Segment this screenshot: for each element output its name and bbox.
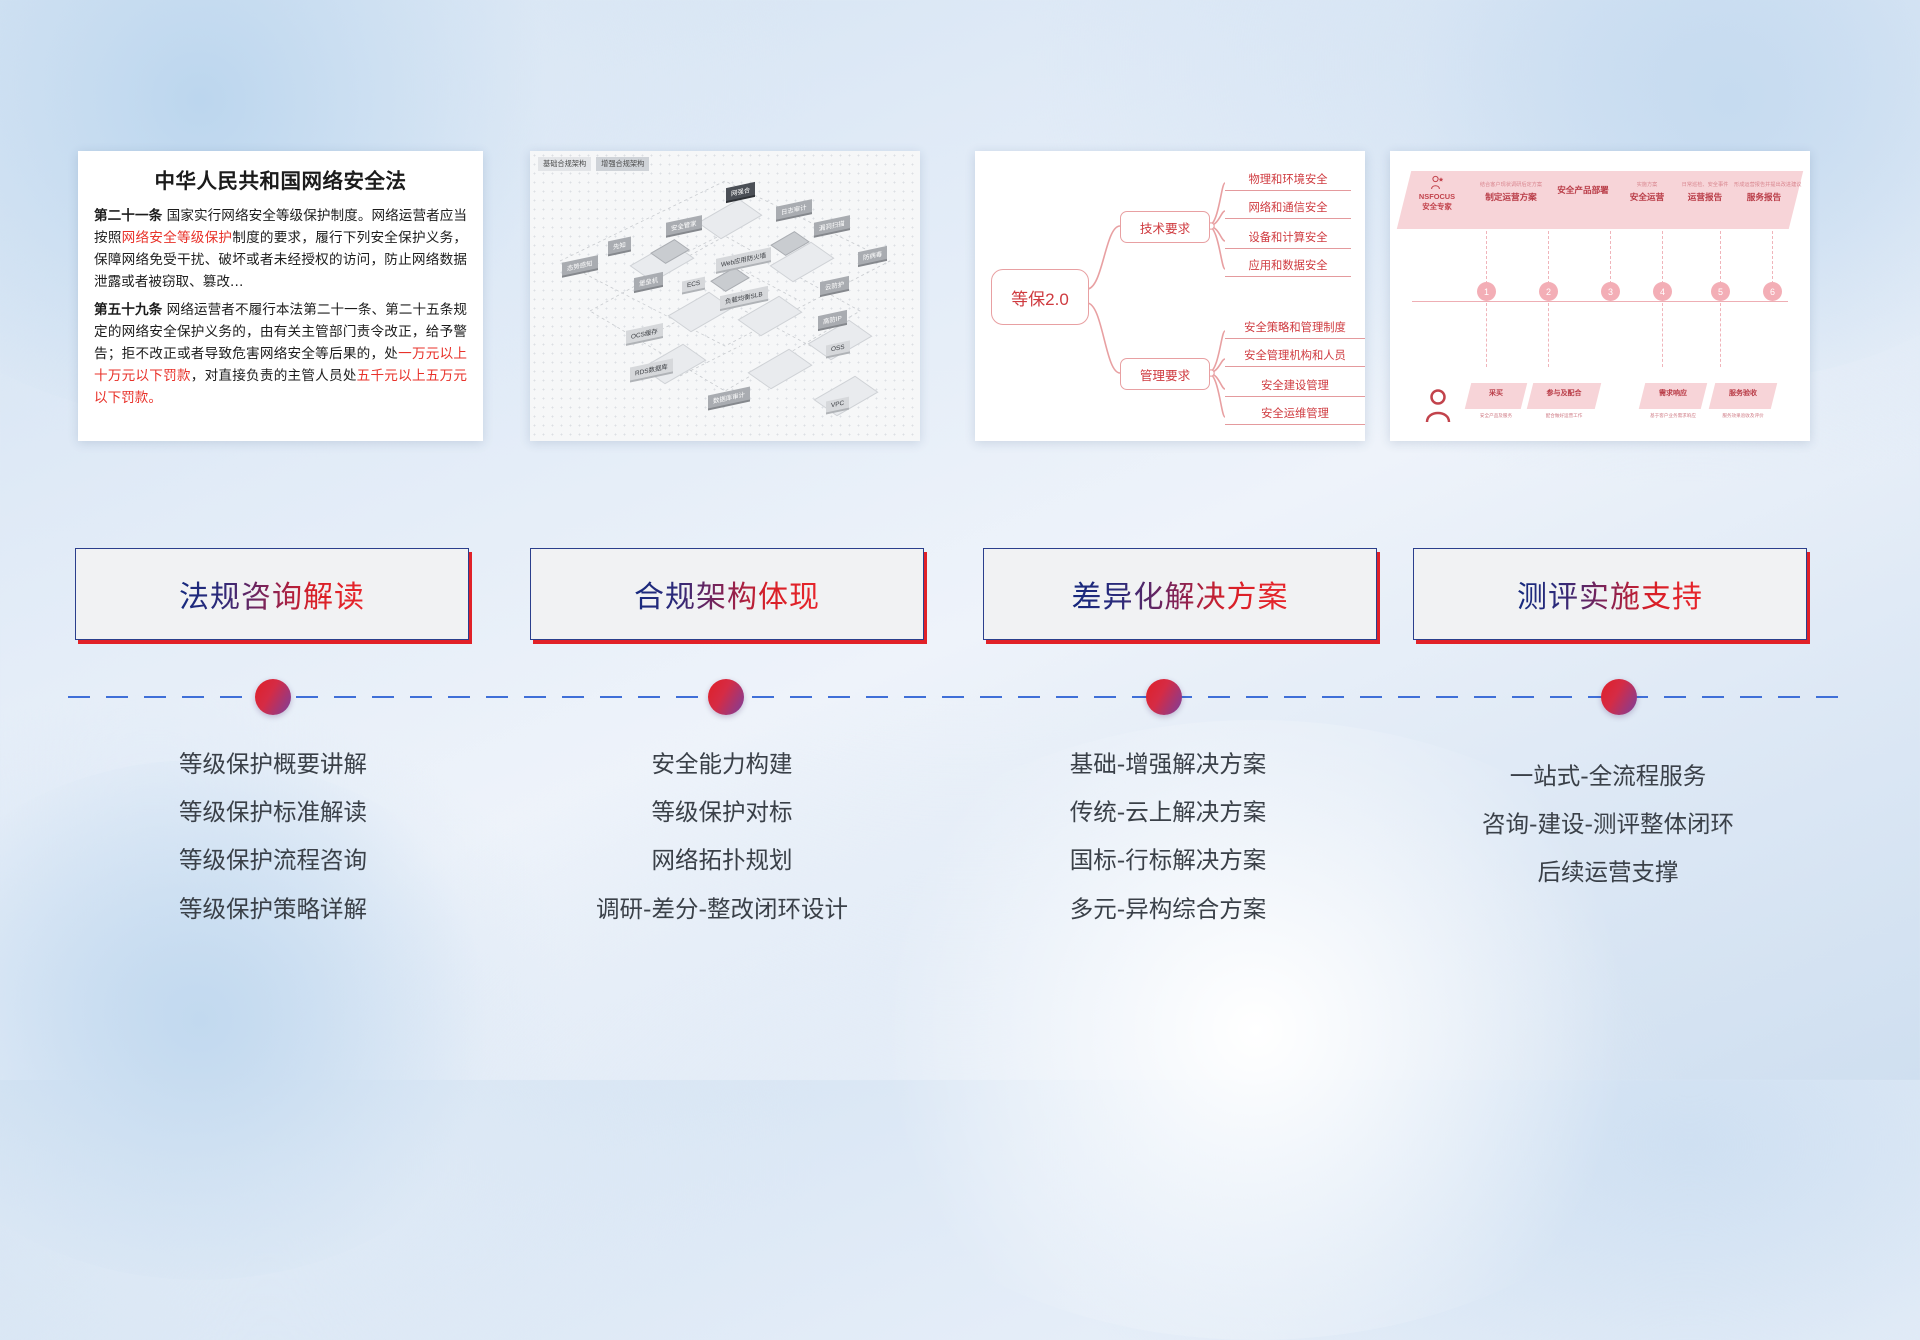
list-item: 国标-行标解决方案	[958, 836, 1378, 884]
mindmap-canvas: 等保2.0 技术要求 管理要求 物理和环境安全 网络和通信安全 设备和计算安全 …	[975, 151, 1365, 441]
mindmap-leaf-t0: 物理和环境安全	[1225, 171, 1351, 191]
roadmap-step-4-sub: 日常巡检、安全事件	[1676, 181, 1734, 188]
law-seg-2-2: ，对直接负责的主管人员处	[191, 368, 357, 384]
roadmap-step-3-sub: 实施方案	[1616, 181, 1678, 188]
section-title-3: 差异化解决方案	[1072, 572, 1289, 616]
roadmap-vline-b3	[1662, 303, 1663, 367]
roadmap-expert-role: 安全专家	[1412, 202, 1462, 212]
architecture-canvas: 基础合规架构 增强合规架构	[530, 151, 920, 441]
mindmap-branch-technical: 技术要求	[1120, 211, 1210, 243]
roadmap-step-3-title: 安全运营	[1616, 191, 1678, 203]
roadmap-tag-title-2: 参与及配合	[1530, 388, 1598, 398]
list-item: 安全能力构建	[512, 740, 932, 788]
section-items-2: 安全能力构建 等级保护对标 网络拓扑规划 调研-差分-整改闭环设计	[512, 740, 932, 933]
roadmap-vline-1	[1486, 231, 1487, 289]
customer-icon	[1418, 387, 1458, 427]
roadmap-vline-3	[1610, 231, 1611, 289]
timeline-dot-3[interactable]	[1146, 679, 1182, 715]
list-item: 调研-差分-整改闭环设计	[512, 885, 932, 933]
roadmap-expert-brand: NSFOCUS	[1412, 192, 1462, 202]
roadmap-vline-b2	[1548, 303, 1549, 367]
roadmap-step-4: 日常巡检、安全事件 运营报告	[1676, 181, 1734, 203]
roadmap-step-1-title: 制定运营方案	[1474, 191, 1548, 203]
list-item: 等级保护策略详解	[63, 885, 483, 933]
slide-stage: 中华人民共和国网络安全法 第二十一条 国家实行网络安全等级保护制度。网络运营者应…	[0, 0, 1920, 1080]
roadmap-tag-title-1: 采买	[1468, 388, 1524, 398]
roadmap-vline-2	[1548, 231, 1549, 289]
card-architecture-diagram: 基础合规架构 增强合规架构	[530, 151, 920, 441]
section-title-4: 测评实施支持	[1517, 572, 1703, 616]
law-article-label-1: 第二十一条	[94, 208, 162, 224]
mindmap-leaf-t3: 应用和数据安全	[1225, 257, 1351, 277]
mindmap-leaf-m3: 安全运维管理	[1225, 405, 1365, 425]
list-item: 传统-云上解决方案	[958, 788, 1378, 836]
law-seg-1-1: 网络安全等级保护	[122, 230, 233, 246]
roadmap-step-5-sub: 形成运营报告并提出改进建议	[1734, 181, 1794, 188]
section-title-box-3[interactable]: 差异化解决方案	[983, 548, 1377, 640]
roadmap-num-2: 2	[1539, 282, 1558, 301]
section-items-4: 一站式-全流程服务 咨询-建设-测评整体闭环 后续运营支撑	[1398, 752, 1818, 897]
list-item: 一站式-全流程服务	[1398, 752, 1818, 800]
roadmap-vline-b4	[1720, 303, 1721, 367]
timeline-dot-1[interactable]	[255, 679, 291, 715]
list-item: 等级保护对标	[512, 788, 932, 836]
roadmap-vline-5	[1720, 231, 1721, 289]
roadmap-num-3: 3	[1601, 282, 1620, 301]
list-item: 多元-异构综合方案	[958, 885, 1378, 933]
section-title-box-2[interactable]: 合规架构体现	[530, 548, 924, 640]
roadmap-step-1: 结合客户现状调研后定方案 制定运营方案	[1474, 181, 1548, 203]
roadmap-tag-title-4: 服务验收	[1712, 388, 1774, 398]
mindmap-leaf-m2: 安全建设管理	[1225, 377, 1365, 397]
section-title-2: 合规架构体现	[634, 572, 820, 616]
roadmap-step-5: 形成运营报告并提出改进建议 服务报告	[1734, 181, 1794, 203]
section-title-1: 法规咨询解读	[179, 572, 365, 616]
section-title-box-1[interactable]: 法规咨询解读	[75, 548, 469, 640]
section-title-box-4[interactable]: 测评实施支持	[1413, 548, 1807, 640]
list-item: 网络拓扑规划	[512, 836, 932, 884]
timeline-dot-4[interactable]	[1601, 679, 1637, 715]
section-items-3: 基础-增强解决方案 传统-云上解决方案 国标-行标解决方案 多元-异构综合方案	[958, 740, 1378, 933]
roadmap-tag-sub-2: 配合做好运营工作	[1524, 413, 1604, 419]
card-roadmap: NSFOCUS 安全专家 结合客户现状调研后定方案 制定运营方案 安全产品部署 …	[1390, 151, 1810, 441]
roadmap-num-6: 6	[1763, 282, 1782, 301]
law-paragraph-2: 第五十九条 网络运营者不履行本法第二十一条、第二十五条规定的网络安全保护义务的，…	[94, 299, 467, 409]
law-paragraph-1: 第二十一条 国家实行网络安全等级保护制度。网络运营者应当按照网络安全等级保护制度…	[94, 205, 467, 293]
mindmap-leaf-m0: 安全策略和管理制度	[1225, 319, 1365, 339]
roadmap-step-1-sub: 结合客户现状调研后定方案	[1474, 181, 1548, 188]
roadmap-expert-label: NSFOCUS 安全专家	[1412, 175, 1462, 212]
card-mindmap: 等保2.0 技术要求 管理要求 物理和环境安全 网络和通信安全 设备和计算安全 …	[975, 151, 1365, 441]
law-article-label-2: 第五十九条	[94, 302, 162, 318]
roadmap-num-5: 5	[1711, 282, 1730, 301]
section-items-1: 等级保护概要讲解 等级保护标准解读 等级保护流程咨询 等级保护策略详解	[63, 740, 483, 933]
roadmap-num-1: 1	[1477, 282, 1496, 301]
mindmap-root: 等保2.0	[991, 269, 1089, 325]
roadmap-step-2: 安全产品部署	[1548, 181, 1618, 196]
roadmap-num-4: 4	[1653, 282, 1672, 301]
roadmap-axis	[1412, 301, 1788, 302]
roadmap-step-3: 实施方案 安全运营	[1616, 181, 1678, 203]
roadmap-vline-b1	[1486, 303, 1487, 367]
roadmap-tag-sub-1: 安全产品及服务	[1460, 413, 1532, 419]
card-law-text: 中华人民共和国网络安全法 第二十一条 国家实行网络安全等级保护制度。网络运营者应…	[78, 151, 483, 441]
roadmap-canvas: NSFOCUS 安全专家 结合客户现状调研后定方案 制定运营方案 安全产品部署 …	[1390, 151, 1810, 441]
list-item: 等级保护流程咨询	[63, 836, 483, 884]
list-item: 等级保护标准解读	[63, 788, 483, 836]
roadmap-step-2-title: 安全产品部署	[1548, 184, 1618, 196]
person-icon	[1429, 175, 1445, 191]
roadmap-step-4-title: 运营报告	[1676, 191, 1734, 203]
law-title: 中华人民共和国网络安全法	[94, 164, 467, 194]
mindmap-branch-management: 管理要求	[1120, 358, 1210, 390]
roadmap-vline-4	[1662, 231, 1663, 289]
law-body: 中华人民共和国网络安全法 第二十一条 国家实行网络安全等级保护制度。网络运营者应…	[78, 151, 483, 441]
timeline-dot-2[interactable]	[708, 679, 744, 715]
list-item: 基础-增强解决方案	[958, 740, 1378, 788]
mindmap-leaf-t1: 网络和通信安全	[1225, 199, 1351, 219]
roadmap-vline-6	[1772, 231, 1773, 289]
timeline-dashed-line	[68, 696, 1852, 698]
mindmap-leaf-m1: 安全管理机构和人员	[1225, 347, 1365, 367]
roadmap-tag-sub-4: 服务效果验收及评价	[1698, 413, 1788, 419]
mindmap-leaf-t2: 设备和计算安全	[1225, 229, 1351, 249]
roadmap-tag-title-3: 需求响应	[1642, 388, 1704, 398]
list-item: 咨询-建设-测评整体闭环	[1398, 800, 1818, 848]
list-item: 后续运营支撑	[1398, 848, 1818, 896]
roadmap-step-5-title: 服务报告	[1734, 191, 1794, 203]
list-item: 等级保护概要讲解	[63, 740, 483, 788]
